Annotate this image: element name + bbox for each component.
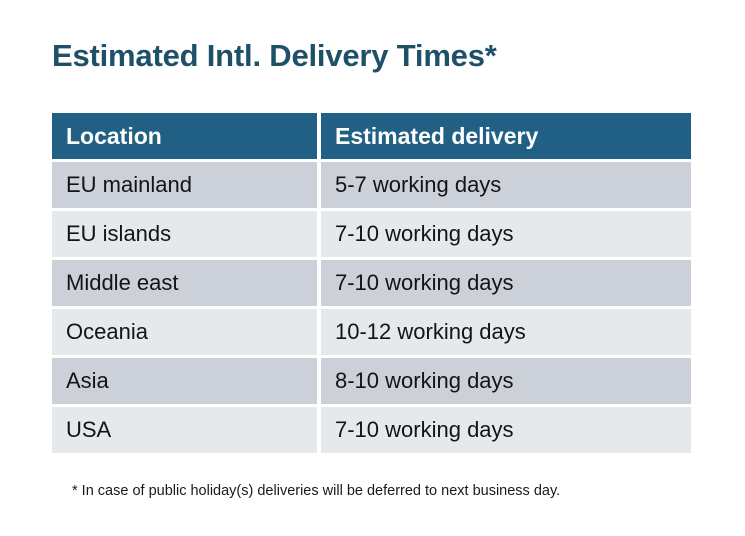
column-header-estimated-delivery: Estimated delivery [321, 113, 691, 159]
page-title: Estimated Intl. Delivery Times* [52, 36, 497, 76]
cell-estimated-delivery: 10-12 working days [321, 309, 691, 355]
cell-estimated-delivery: 5-7 working days [321, 162, 691, 208]
table-row: Asia 8-10 working days [52, 358, 691, 404]
table-row: EU islands 7-10 working days [52, 211, 691, 257]
cell-estimated-delivery: 7-10 working days [321, 211, 691, 257]
column-header-location: Location [52, 113, 317, 159]
footnote-text: * In case of public holiday(s) deliverie… [72, 481, 560, 501]
table-row: Middle east 7-10 working days [52, 260, 691, 306]
delivery-times-page: Estimated Intl. Delivery Times* Location… [0, 0, 745, 536]
table-row: USA 7-10 working days [52, 407, 691, 453]
table-header-row: Location Estimated delivery [52, 113, 691, 159]
table-row: Oceania 10-12 working days [52, 309, 691, 355]
cell-location: Middle east [52, 260, 317, 306]
table-row: EU mainland 5-7 working days [52, 162, 691, 208]
cell-location: Asia [52, 358, 317, 404]
cell-location: USA [52, 407, 317, 453]
cell-location: EU islands [52, 211, 317, 257]
cell-estimated-delivery: 7-10 working days [321, 407, 691, 453]
cell-location: Oceania [52, 309, 317, 355]
cell-estimated-delivery: 7-10 working days [321, 260, 691, 306]
cell-estimated-delivery: 8-10 working days [321, 358, 691, 404]
delivery-times-table: Location Estimated delivery EU mainland … [52, 113, 691, 453]
cell-location: EU mainland [52, 162, 317, 208]
